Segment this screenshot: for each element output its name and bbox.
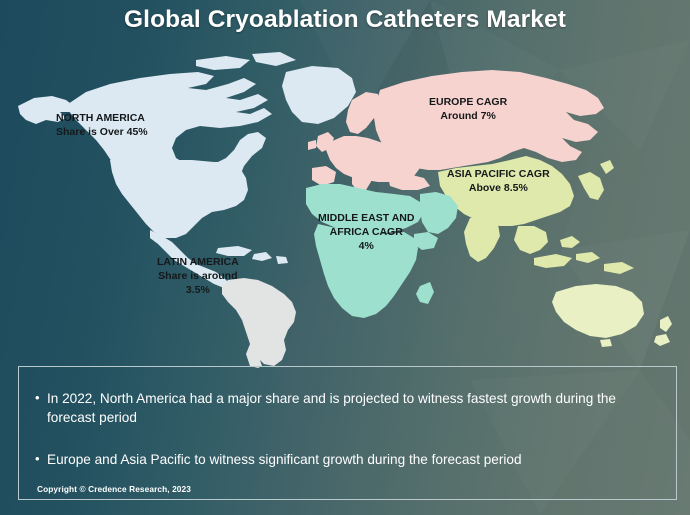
page-title: Global Cryoablation Catheters Market — [0, 6, 690, 34]
region-label-north-america-value: Share is Over 45% — [56, 126, 148, 140]
region-label-middle-east-africa[interactable]: MIDDLE EAST AND AFRICA CAGR 4% — [318, 212, 414, 254]
region-label-asia-pacific[interactable]: ASIA PACIFIC CAGR Above 8.5% — [447, 168, 550, 196]
title-bar: Global Cryoablation Catheters Market — [0, 6, 690, 34]
bullet-icon: • — [35, 450, 47, 468]
insight-item: • Europe and Asia Pacific to witness sig… — [35, 450, 660, 469]
insight-text-2: Europe and Asia Pacific to witness signi… — [47, 450, 660, 469]
world-map — [0, 48, 690, 368]
infographic-root: Global Cryoablation Catheters Market — [0, 0, 690, 515]
region-label-europe[interactable]: EUROPE CAGR Around 7% — [429, 96, 507, 124]
map-region-north-america[interactable] — [18, 52, 356, 288]
region-label-north-america-title: NORTH AMERICA — [56, 112, 148, 126]
insight-item: • In 2022, North America had a major sha… — [35, 389, 660, 428]
region-label-latin-america-value: Share is around — [157, 270, 239, 284]
copyright-text: Copyright © Credence Research, 2023 — [37, 484, 191, 494]
region-label-middle-east-africa-title-line2: AFRICA CAGR — [318, 226, 414, 240]
region-label-asia-pacific-title: ASIA PACIFIC CAGR — [447, 168, 550, 182]
region-label-europe-value: Around 7% — [429, 110, 507, 124]
bullet-icon: • — [35, 389, 47, 407]
insights-panel: • In 2022, North America had a major sha… — [18, 366, 677, 500]
region-label-north-america[interactable]: NORTH AMERICA Share is Over 45% — [56, 112, 148, 140]
region-label-asia-pacific-value: Above 8.5% — [447, 182, 550, 196]
region-label-europe-title: EUROPE CAGR — [429, 96, 507, 110]
region-label-latin-america[interactable]: LATIN AMERICA Share is around 3.5% — [157, 256, 239, 298]
region-label-middle-east-africa-value: 4% — [318, 240, 414, 254]
world-map-svg — [0, 48, 690, 368]
region-label-middle-east-africa-title-line1: MIDDLE EAST AND — [318, 212, 414, 226]
region-label-latin-america-title: LATIN AMERICA — [157, 256, 239, 270]
region-label-latin-america-value2: 3.5% — [157, 284, 239, 298]
insight-text-1: In 2022, North America had a major share… — [47, 389, 660, 428]
